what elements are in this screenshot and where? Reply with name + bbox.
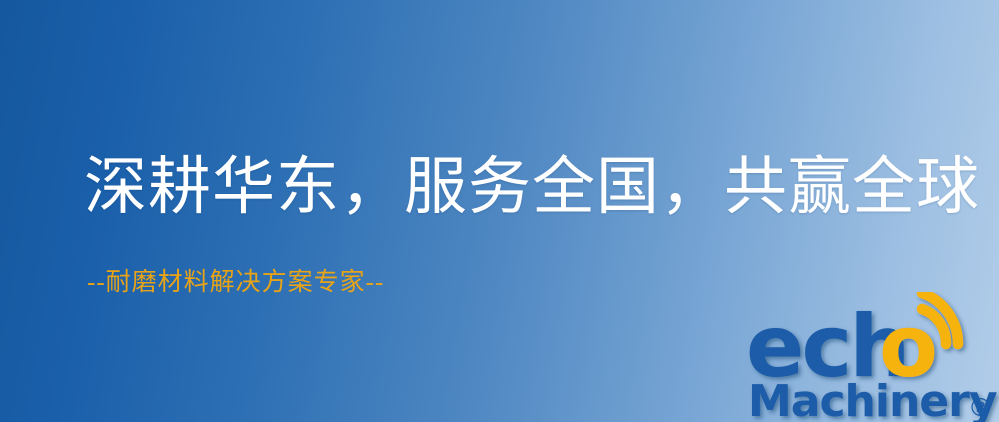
hero-banner: 深耕华东，服务全国，共赢全球 --耐磨材料解决方案专家-- ech o Mach…: [0, 0, 999, 422]
banner-headline: 深耕华东，服务全国，共赢全球: [84, 152, 980, 223]
logo-wordmark-sub: Machinery: [748, 376, 997, 422]
registered-trademark-icon: ®: [968, 393, 993, 422]
banner-subheadline: --耐磨材料解决方案专家--: [87, 268, 384, 298]
echo-machinery-logo[interactable]: ech o Machinery ®: [746, 292, 999, 422]
